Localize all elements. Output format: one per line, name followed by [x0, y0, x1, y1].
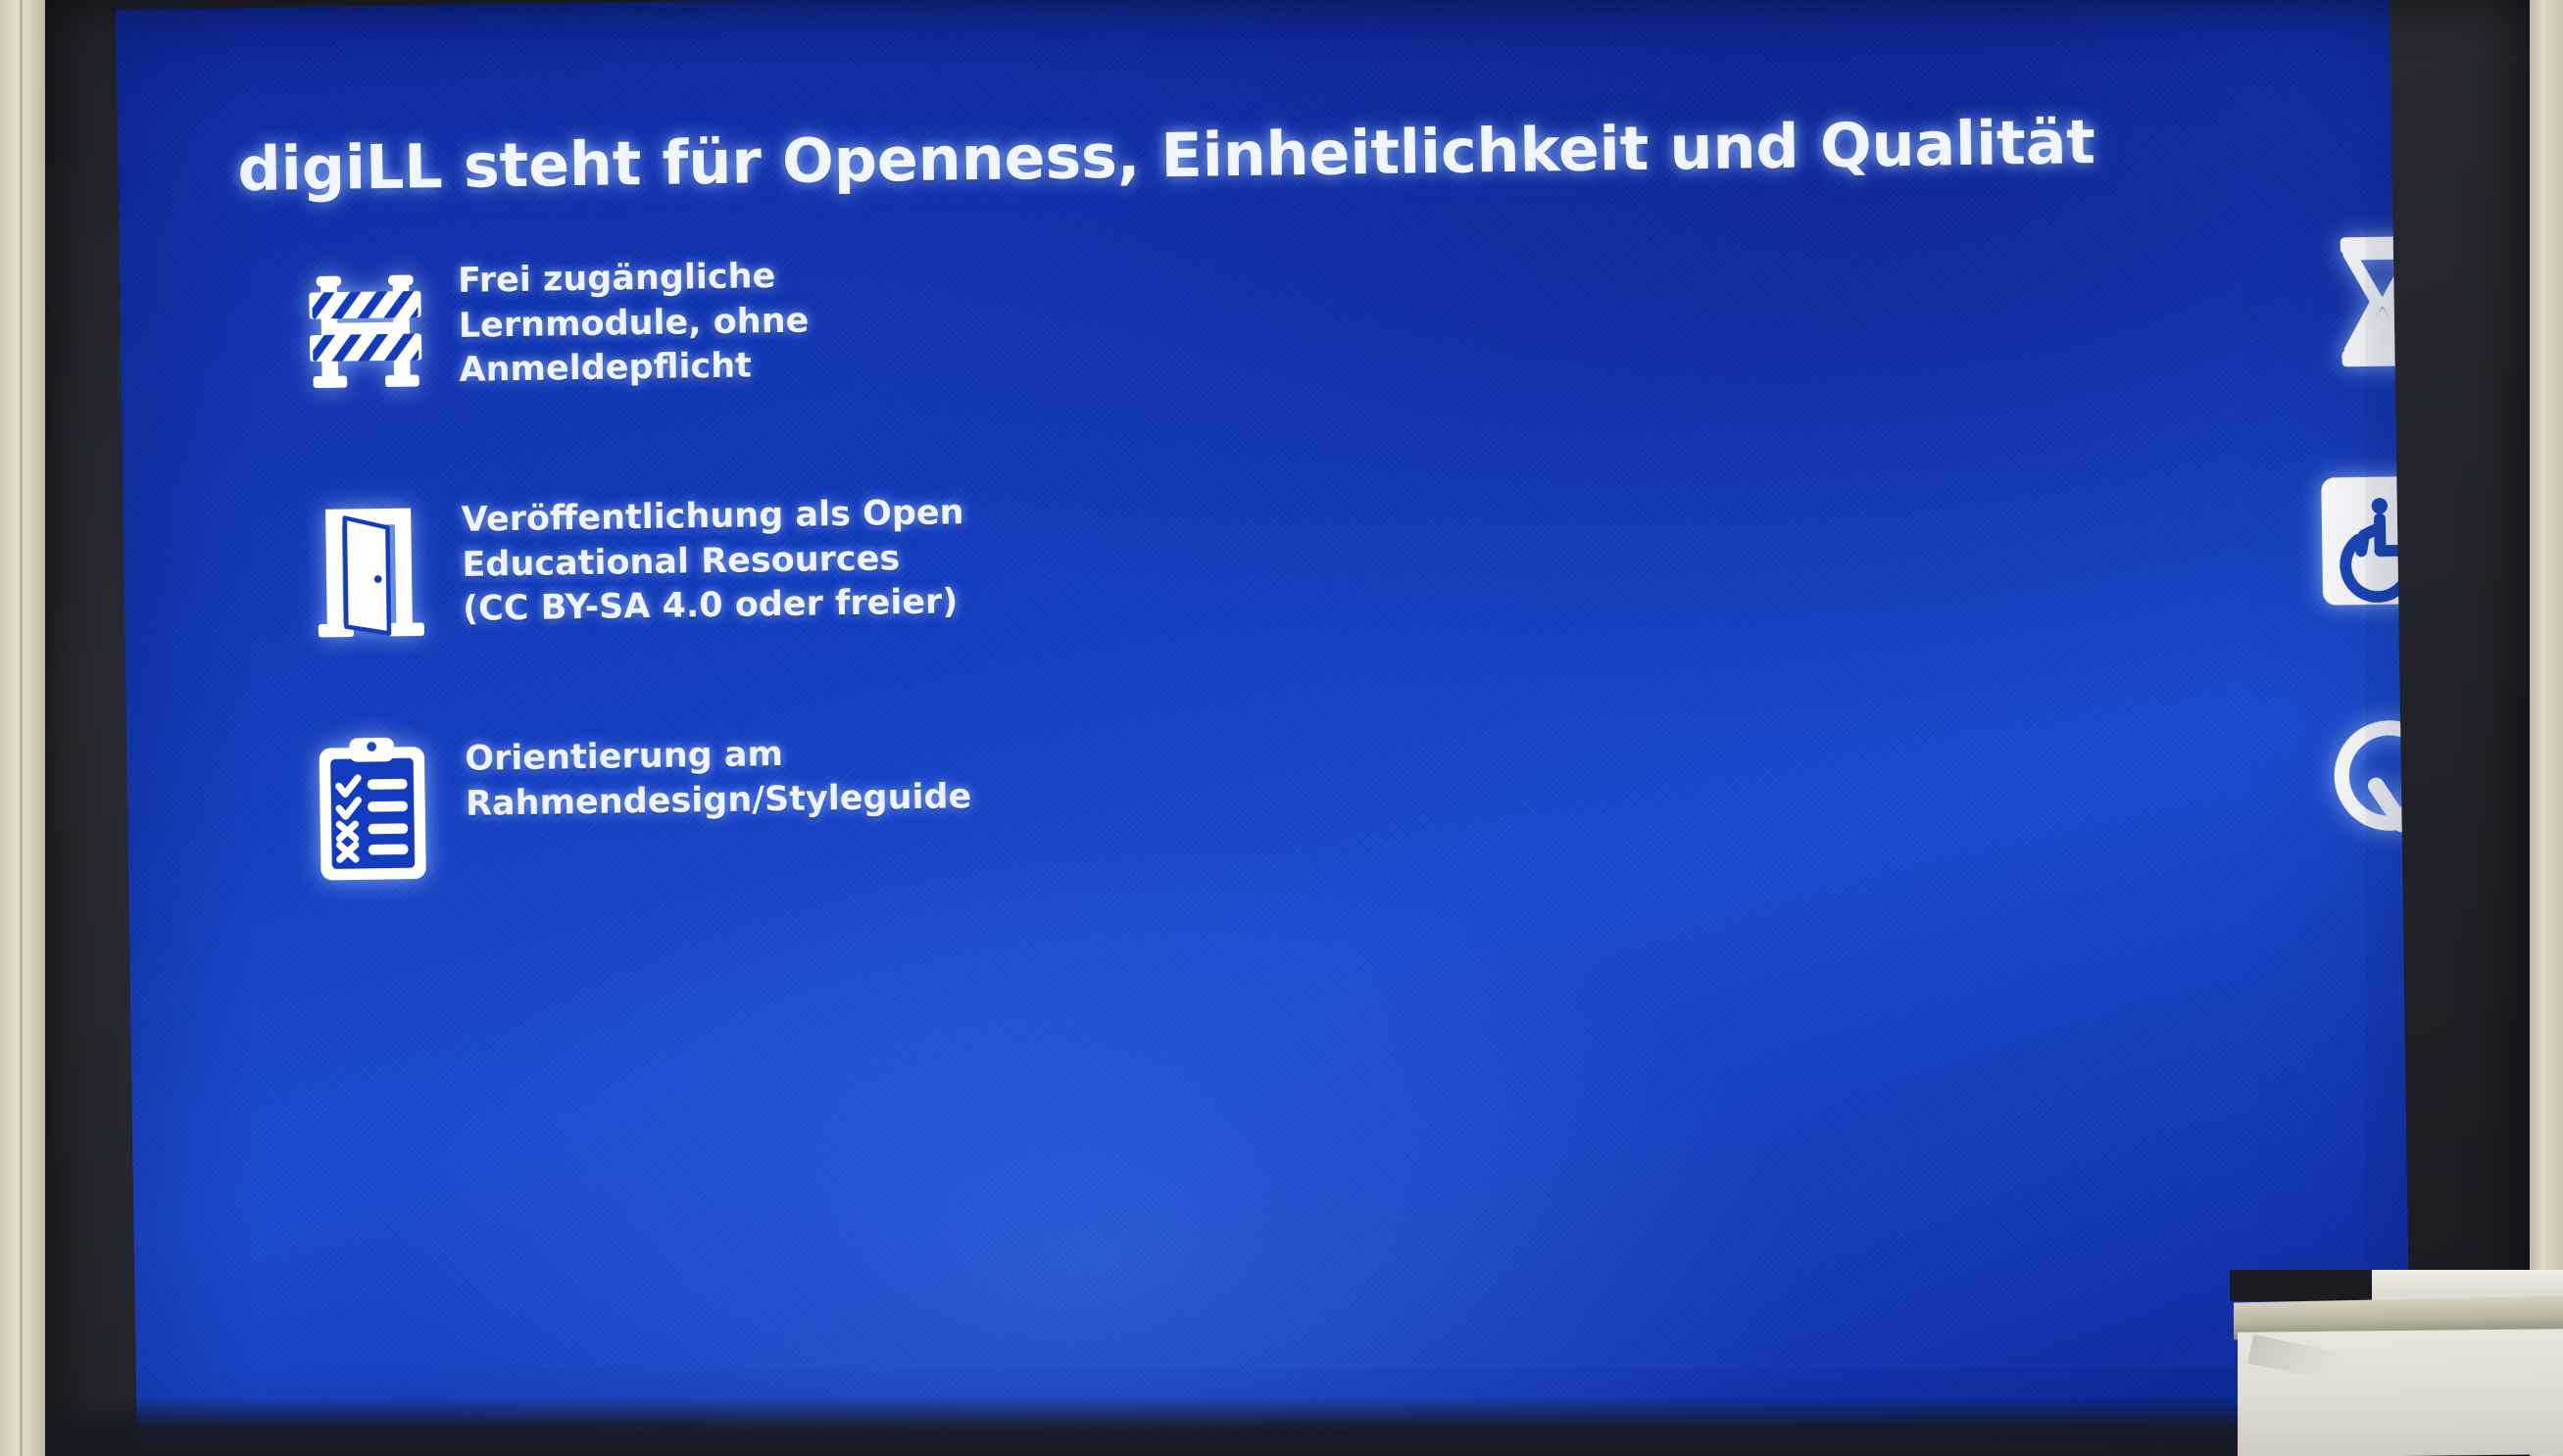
screen-bottom-shadow — [45, 1397, 2299, 1456]
feature-text: Orientierung am Rahmendesign/Styleguide — [465, 730, 972, 827]
feature-text: Frei zugängliche Lernmodule, ohne Anmeld… — [458, 255, 811, 394]
road-barrier-icon — [288, 252, 442, 411]
clipboard-checklist-icon — [295, 730, 449, 889]
slide-content: digiLL steht für Openness, Einheitlichke… — [116, 0, 2411, 1456]
open-door-icon — [291, 491, 445, 650]
feature-grid: Frei zugängliche Lernmodule, ohne Anmeld… — [120, 223, 2404, 974]
room-wall-right — [2526, 0, 2563, 1456]
slide-title: digiLL steht für Openness, Einheitlichke… — [237, 104, 2257, 206]
feature-item-styleguide: Orientierung am Rahmendesign/Styleguide — [126, 718, 1266, 974]
quality-cycle-check-icon — [2312, 701, 2411, 859]
feature-item-accessibility: Beachtung barrierefreier Grundsätze — [1259, 462, 2399, 718]
wall-seam — [20, 0, 23, 1456]
feature-item-free-access: Frei zugängliche Lernmodule, ohne Anmeld… — [120, 240, 1259, 496]
wheelchair-accessibility-icon — [2308, 461, 2411, 620]
photo-of-projected-slide: digiLL steht für Openness, Einheitlichke… — [0, 0, 2563, 1456]
foreground-flipchart — [2230, 1270, 2563, 1456]
feature-text: Veröffentlichung als Open Educational Re… — [461, 491, 965, 632]
feature-item-short-modules: Bereitstellung kurzer Module (Richtwert … — [1257, 223, 2396, 479]
room-wall-left — [0, 0, 45, 1456]
projection-screen-surface: digiLL steht für Openness, Einheitlichke… — [116, 0, 2411, 1456]
feature-item-oer: Veröffentlichung als Open Educational Re… — [123, 479, 1262, 735]
feature-item-quality-process: Standardisierter, dreistufiger Qualitäts… — [1263, 702, 2403, 957]
